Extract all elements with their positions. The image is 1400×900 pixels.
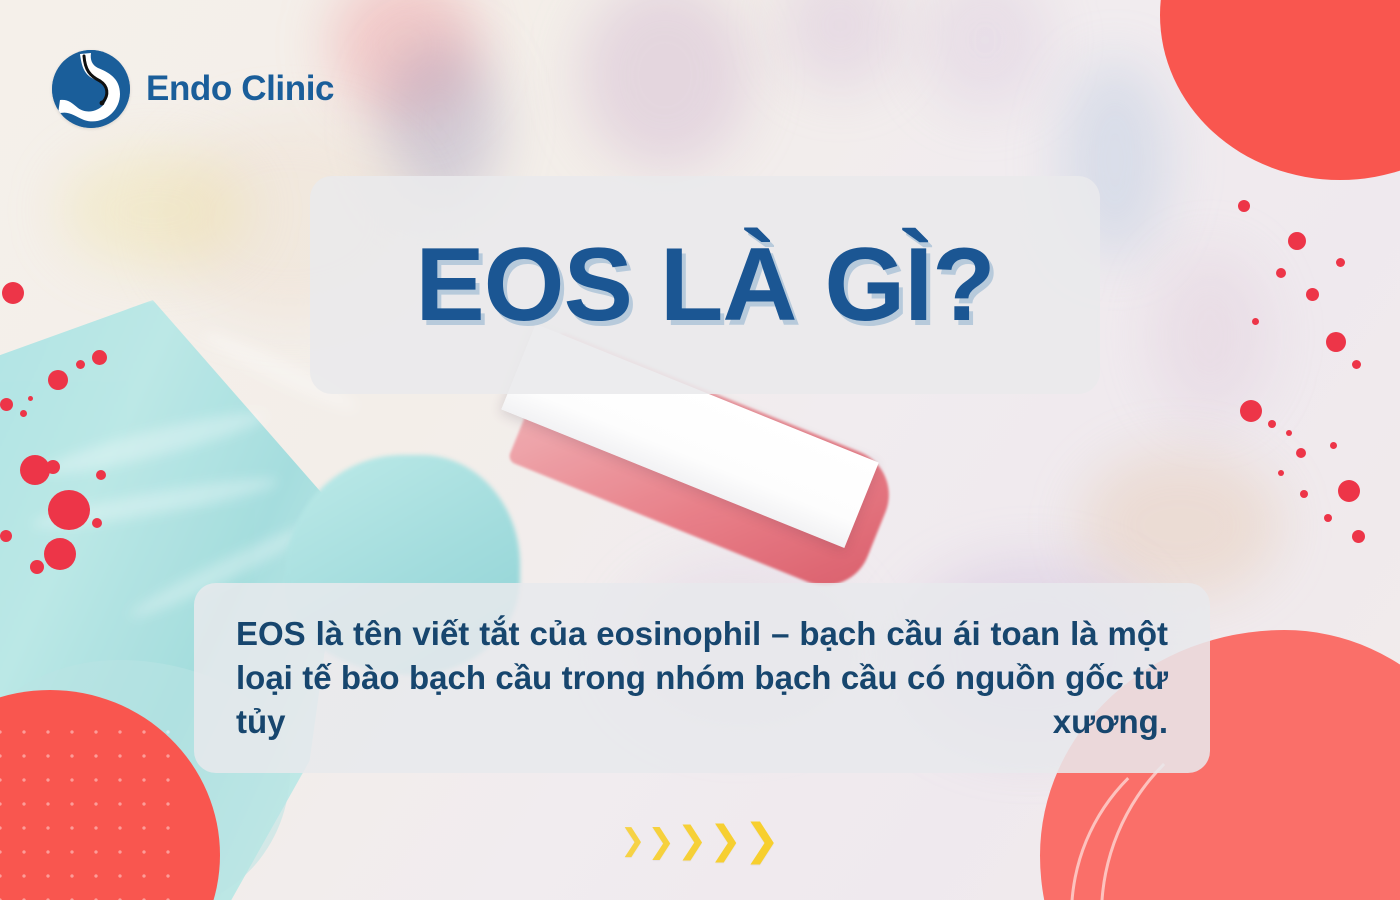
blood-splatter-dot bbox=[48, 370, 68, 390]
bg-slide-blur-3 bbox=[580, 0, 750, 170]
blood-splatter-dot bbox=[1276, 268, 1286, 278]
blood-splatter-dot bbox=[30, 560, 44, 574]
stomach-endoscope-circle-icon bbox=[52, 50, 130, 128]
brand-logo[interactable]: Endo Clinic bbox=[52, 50, 334, 128]
blood-splatter-dot bbox=[48, 490, 90, 530]
chevron-right-icon: ❯ bbox=[709, 821, 742, 860]
blood-splatter-dot bbox=[92, 518, 102, 528]
blood-splatter-dot bbox=[1352, 360, 1361, 369]
chevron-arrows-group: ❯ ❯ ❯ ❯ ❯ bbox=[0, 819, 1400, 862]
description-text: EOS là tên viết tắt của eosinophil – bạc… bbox=[236, 612, 1168, 744]
blood-splatter-dot bbox=[1338, 480, 1360, 502]
blood-splatter-dot bbox=[1326, 332, 1346, 352]
blood-splatter-dot bbox=[1306, 288, 1319, 301]
blood-splatter-dot bbox=[20, 410, 27, 417]
blood-splatter-dot bbox=[76, 360, 85, 369]
blood-splatter-dot bbox=[92, 350, 107, 365]
blood-splatter-dot bbox=[2, 282, 24, 304]
blood-splatter-dot bbox=[20, 455, 50, 485]
bg-slide-blur-4 bbox=[780, 0, 900, 90]
description-panel: EOS là tên viết tắt của eosinophil – bạc… bbox=[194, 583, 1210, 773]
blood-splatter-dot bbox=[1268, 420, 1276, 428]
blood-splatter-dot bbox=[1288, 232, 1306, 250]
bg-slide-blur-12 bbox=[60, 150, 250, 270]
blood-splatter-dot bbox=[1324, 514, 1332, 522]
blood-splatter-dot bbox=[1352, 530, 1365, 543]
brand-name: Endo Clinic bbox=[146, 69, 334, 109]
dot-pattern-bottom-left bbox=[0, 720, 180, 900]
blood-splatter-dot bbox=[1278, 470, 1284, 476]
chevron-right-icon: ❯ bbox=[620, 826, 645, 856]
blood-splatter-dot bbox=[1238, 200, 1250, 212]
bg-slide-blur-8 bbox=[1080, 450, 1280, 600]
chevron-right-icon: ❯ bbox=[677, 823, 707, 859]
poster-canvas: Endo Clinic EOS LÀ GÌ? EOS là tên viết t… bbox=[0, 0, 1400, 900]
page-title: EOS LÀ GÌ? bbox=[415, 233, 994, 337]
blood-splatter-dot bbox=[1240, 400, 1262, 422]
blood-splatter-dot bbox=[1252, 318, 1259, 325]
chevron-right-icon: ❯ bbox=[647, 824, 675, 857]
blood-splatter-dot bbox=[28, 396, 33, 401]
chevron-right-icon: ❯ bbox=[744, 819, 780, 862]
blood-splatter-dot bbox=[1286, 430, 1292, 436]
blood-splatter-dot bbox=[96, 470, 106, 480]
blood-splatter-dot bbox=[1336, 258, 1345, 267]
blood-splatter-dot bbox=[44, 538, 76, 570]
blood-splatter-dot bbox=[1300, 490, 1308, 498]
blood-splatter-dot bbox=[1330, 442, 1337, 449]
title-panel: EOS LÀ GÌ? bbox=[310, 176, 1100, 394]
blood-splatter-dot bbox=[0, 398, 13, 411]
blood-splatter-dot bbox=[0, 530, 12, 542]
blood-splatter-dot bbox=[46, 460, 60, 474]
bg-slide-blur-5 bbox=[920, 0, 1050, 110]
bg-slide-blur-7 bbox=[1150, 250, 1270, 420]
blood-splatter-dot bbox=[1296, 448, 1306, 458]
